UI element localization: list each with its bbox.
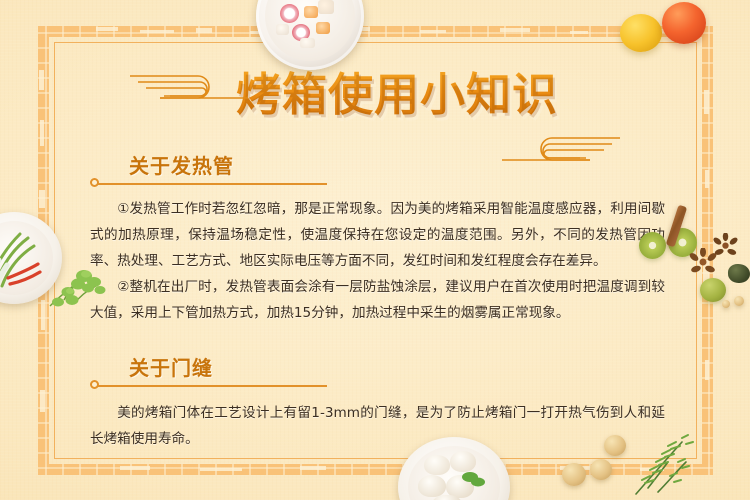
heading-rule (97, 385, 327, 387)
green-olive-image (700, 278, 726, 302)
chickpea-image (734, 296, 744, 306)
body-copy-heating-tube: ①发热管工作时若忽红忽暗，那是正常现象。因为美的烤箱采用智能温度感应器，利用间歇… (90, 196, 665, 326)
heading-rule (97, 183, 327, 185)
paragraph: 美的烤箱门体在工艺设计上有留1-3mm的门缝，是为了防止烤箱门一打开热气伤到人和… (90, 400, 665, 452)
section-title: 关于门缝 (129, 355, 213, 381)
section-title: 关于发热管 (129, 153, 234, 179)
paragraph: ②整机在出厂时，发热管表面会涂有一层防盐蚀涂层，建议用户在首次使用时把温度调到较… (90, 274, 665, 326)
dark-bean-image (728, 264, 750, 283)
page-title: 烤箱使用小知识 (236, 66, 558, 124)
kiwi-halves-image (639, 232, 666, 259)
star-anise-image (712, 233, 739, 260)
section-heating-tube: 关于发热管 (0, 153, 750, 193)
paragraph: ①发热管工作时若忽红忽暗，那是正常现象。因为美的烤箱采用智能温度感应器，利用间歇… (90, 196, 665, 274)
section-heading-wrapper: 关于门缝 (0, 355, 750, 395)
poster-canvas: 烤箱使用小知识 烤箱使用小知识 关于发热管 (0, 0, 750, 500)
chickpea-image (562, 463, 586, 486)
title-row: 烤箱使用小知识 烤箱使用小知识 (0, 66, 750, 128)
tomato-image (662, 2, 706, 44)
swirl-left-icon (130, 62, 250, 117)
yellow-tomato-image (620, 14, 662, 52)
chickpea-image (590, 459, 612, 480)
section-heading-wrapper: 关于发热管 (0, 153, 750, 193)
chickpea-image (722, 300, 730, 308)
body-copy-door-gap: 美的烤箱门体在工艺设计上有留1-3mm的门缝，是为了防止烤箱门一打开热气伤到人和… (90, 400, 665, 452)
section-door-gap: 关于门缝 (0, 355, 750, 395)
chickpea-image (604, 435, 626, 456)
